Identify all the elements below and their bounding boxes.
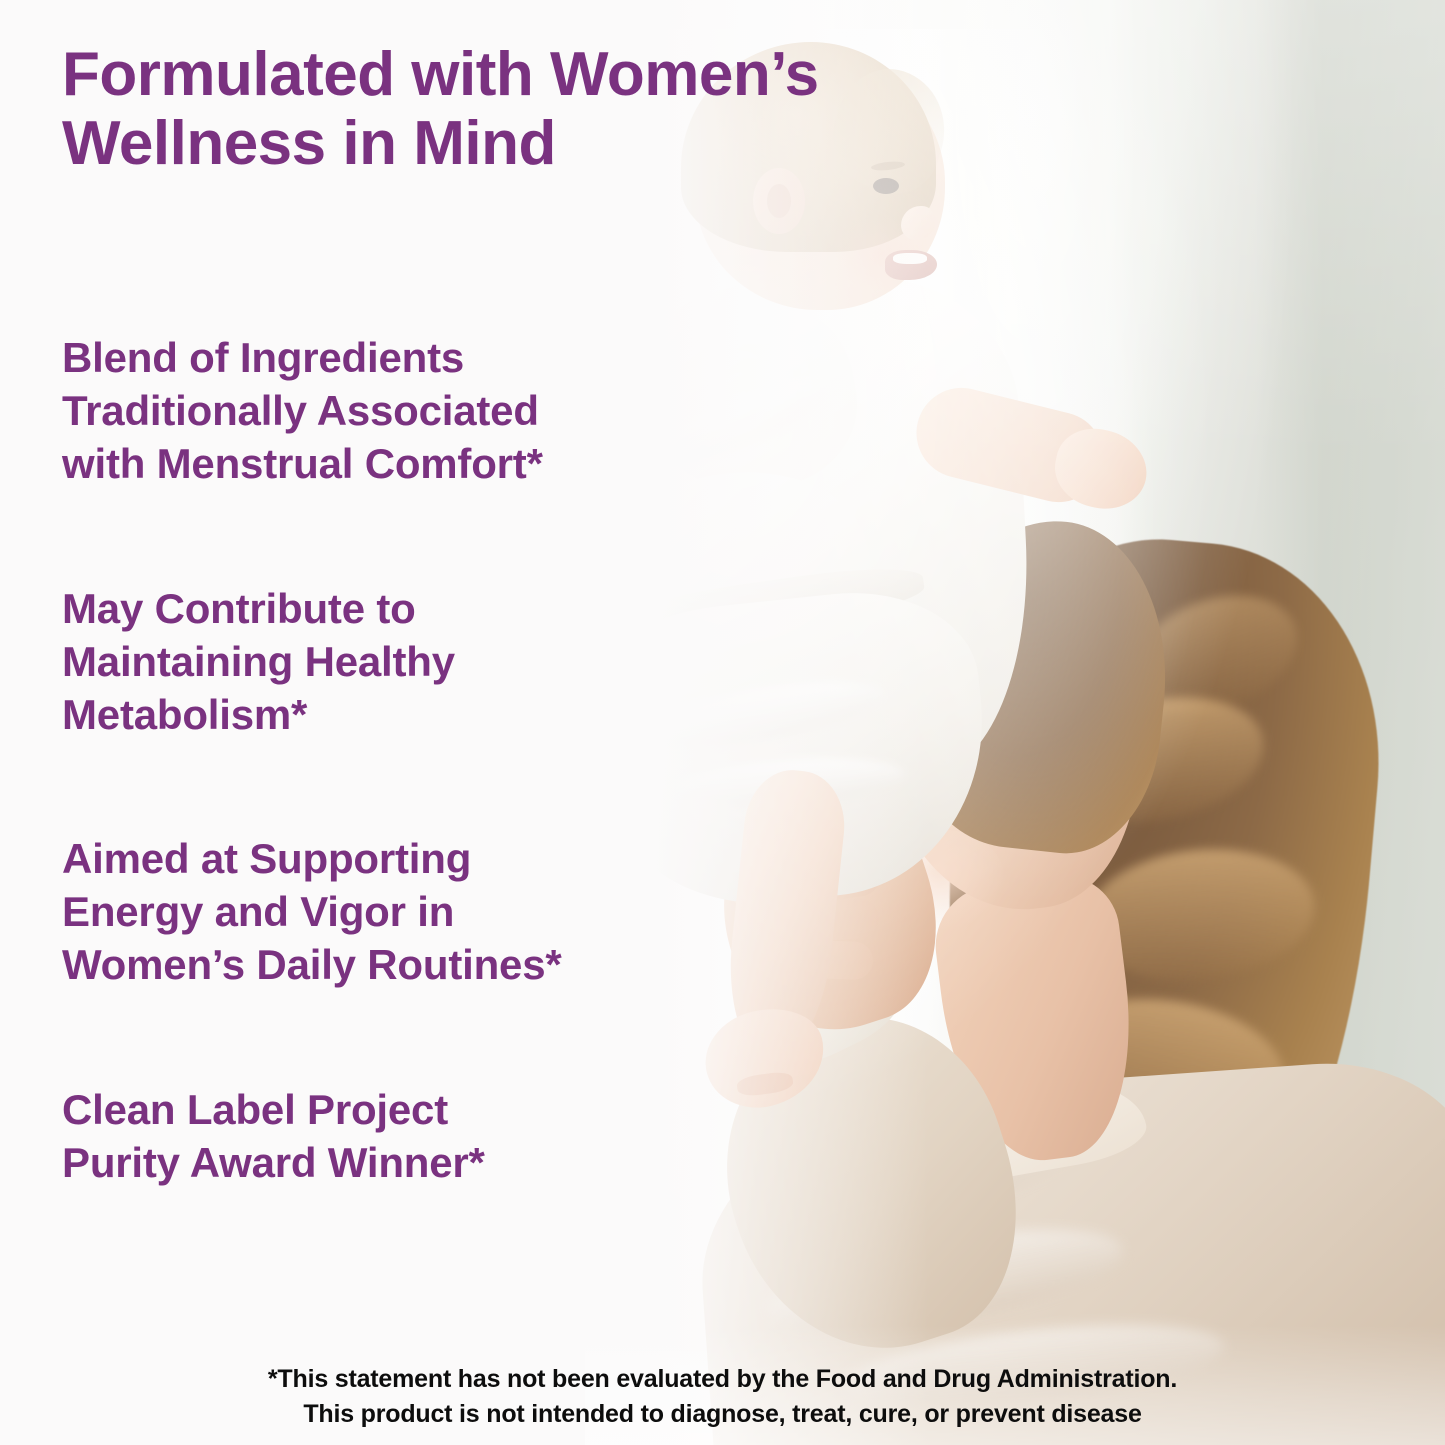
- text-layer: Formulated with Women’s Wellness in Mind…: [0, 0, 1445, 1445]
- claim-line: Traditionally Associated: [62, 385, 702, 438]
- claim-line: Maintaining Healthy: [62, 636, 702, 689]
- claim-line: Purity Award Winner*: [62, 1137, 702, 1190]
- claim-healthy-metabolism: May Contribute to Maintaining Healthy Me…: [62, 583, 702, 742]
- claims-list: Blend of Ingredients Traditionally Assoc…: [62, 332, 702, 1190]
- product-benefits-poster: Formulated with Women’s Wellness in Mind…: [0, 0, 1445, 1445]
- claim-menstrual-comfort: Blend of Ingredients Traditionally Assoc…: [62, 332, 702, 491]
- page-title: Formulated with Women’s Wellness in Mind: [62, 40, 1042, 179]
- claim-energy-vigor: Aimed at Supporting Energy and Vigor in …: [62, 833, 702, 992]
- claim-line: Blend of Ingredients: [62, 332, 702, 385]
- claim-purity-award: Clean Label Project Purity Award Winner*: [62, 1084, 702, 1190]
- claim-line: Energy and Vigor in: [62, 886, 702, 939]
- claim-line: Women’s Daily Routines*: [62, 939, 702, 992]
- claim-line: Clean Label Project: [62, 1084, 702, 1137]
- headline-line-2: Wellness in Mind: [62, 109, 1042, 178]
- disclaimer-line-1: *This statement has not been evaluated b…: [120, 1362, 1325, 1397]
- claim-line: Aimed at Supporting: [62, 833, 702, 886]
- claim-line: May Contribute to: [62, 583, 702, 636]
- fda-disclaimer: *This statement has not been evaluated b…: [0, 1362, 1445, 1431]
- claim-line: with Menstrual Comfort*: [62, 438, 702, 491]
- claim-line: Metabolism*: [62, 689, 702, 742]
- headline-line-1: Formulated with Women’s: [62, 40, 1042, 109]
- disclaimer-line-2: This product is not intended to diagnose…: [120, 1397, 1325, 1432]
